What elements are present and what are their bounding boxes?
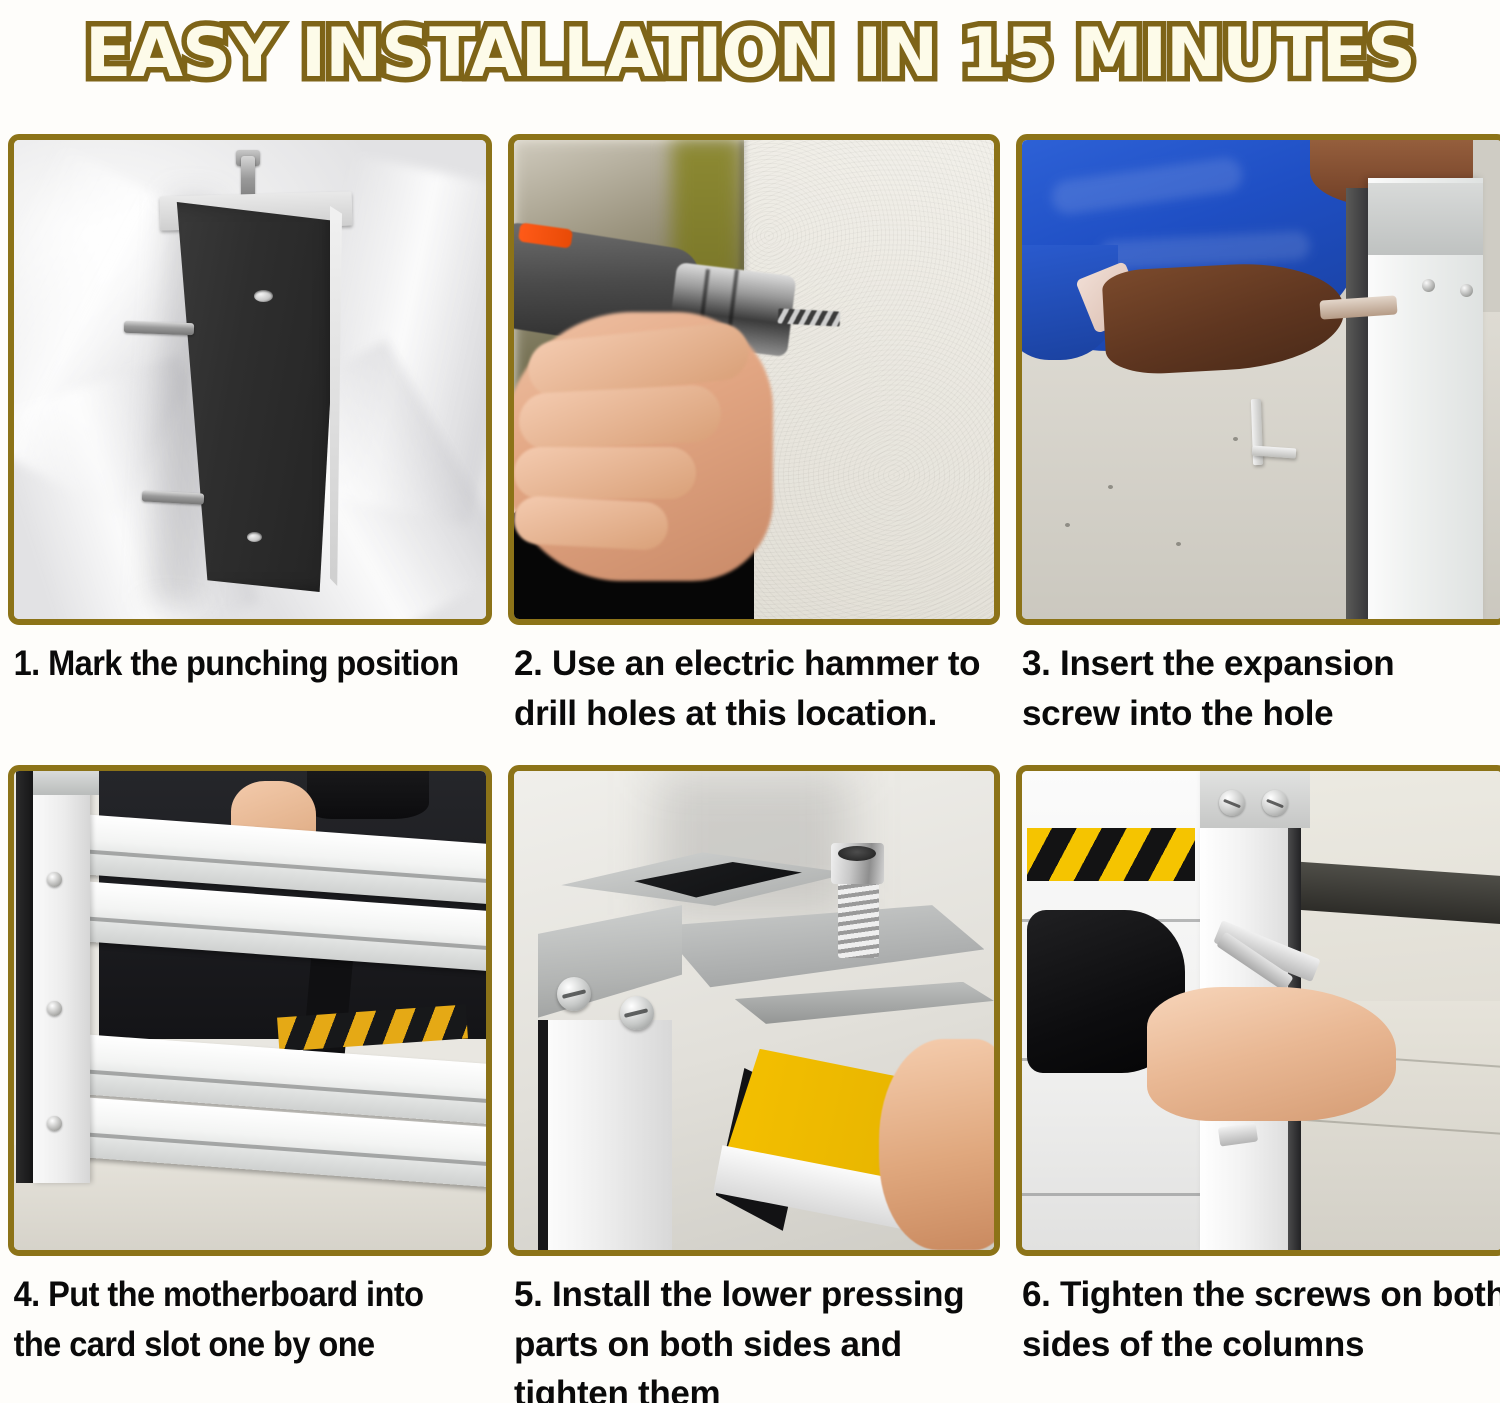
expansion-screw-photo — [1022, 140, 1500, 619]
step-3-photo-panel — [1016, 134, 1500, 625]
column-screw-1 — [1219, 790, 1245, 816]
step-2-photo-panel — [508, 134, 1000, 625]
step-6-photo-panel — [1016, 765, 1500, 1256]
barrier-boards-photo — [14, 771, 486, 1250]
post-screw-3 — [47, 1116, 62, 1131]
tighten-screws-photo — [1022, 771, 1500, 1250]
pressing-bracket-photo — [514, 771, 994, 1250]
step-1-caption: 1. Mark the punching position — [8, 625, 458, 765]
column-screw-2 — [1460, 284, 1473, 297]
steps-grid: 1. Mark the punching position 2. Use an … — [8, 134, 1492, 1403]
bracket-hole-lower — [247, 532, 262, 542]
hand — [879, 1039, 994, 1250]
page-title-bar: EASY INSTALLATION IN 15 MINUTES — [0, 0, 1500, 108]
bolt-shaft — [838, 881, 879, 958]
post-screw-2 — [47, 1001, 62, 1016]
step-5-photo-panel — [508, 765, 1000, 1256]
step-4-photo-panel — [8, 765, 492, 1256]
side-bolt-upper — [124, 321, 194, 335]
bracket-screw-2 — [620, 996, 654, 1030]
hazard-stripe — [1027, 828, 1195, 881]
drilling-photo — [514, 140, 994, 619]
bracket-screw-1 — [557, 977, 591, 1011]
column-screw-1 — [1422, 279, 1435, 292]
post-screw-1 — [47, 872, 62, 887]
step-3-caption: 3. Insert the expansion screw into the h… — [1016, 625, 1500, 765]
bracket-hole-upper — [254, 290, 273, 302]
page-title: EASY INSTALLATION IN 15 MINUTES — [85, 18, 1415, 90]
column-screw-2 — [1262, 790, 1288, 816]
step-1-photo-panel — [8, 134, 492, 625]
installation-guide-page: EASY INSTALLATION IN 15 MINUTES — [0, 0, 1500, 1403]
hand — [1147, 987, 1397, 1121]
step-5-caption: 5. Install the lower pressing parts on b… — [508, 1256, 1000, 1403]
step-2-caption: 2. Use an electric hammer to drill holes… — [508, 625, 1000, 765]
wall-surface — [744, 140, 994, 619]
step-6-caption: 6. Tighten the screws on both sides of t… — [1016, 1256, 1500, 1403]
bracket-photo — [14, 140, 486, 619]
column-post — [548, 1020, 673, 1250]
step-4-caption: 4. Put the motherboard into the card slo… — [8, 1256, 458, 1403]
